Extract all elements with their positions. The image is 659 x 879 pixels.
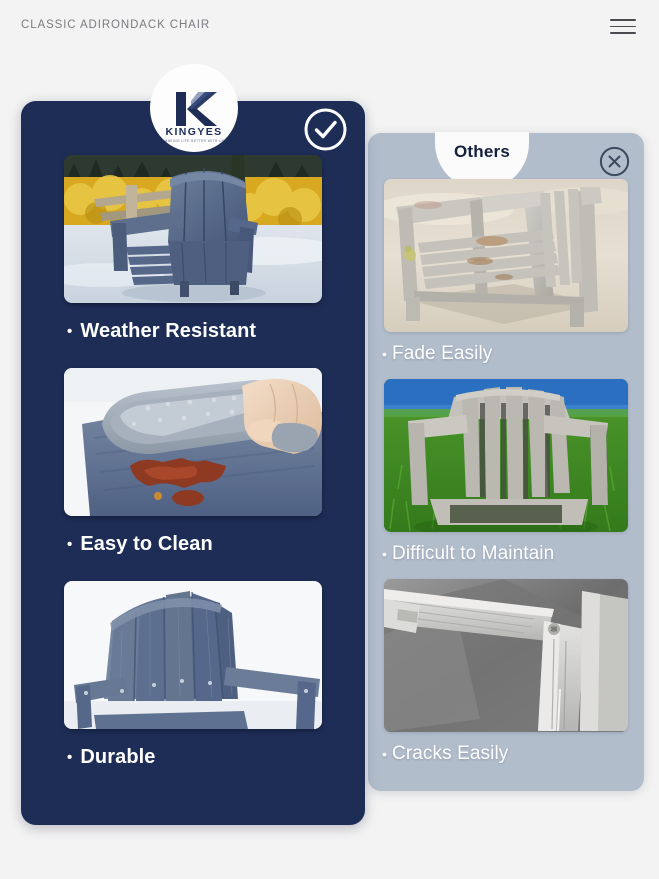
list-item: •Easy to Clean: [21, 368, 365, 581]
ours-photo-durable: [64, 581, 322, 729]
hamburger-line: [610, 19, 636, 21]
bullet-icon: •: [382, 746, 387, 762]
hamburger-line: [610, 26, 636, 28]
kingyes-k-logo-icon: [167, 92, 221, 126]
list-item: •Weather Resistant: [21, 155, 365, 368]
others-item-label: •Cracks Easily: [368, 732, 644, 779]
bullet-icon: •: [67, 749, 72, 766]
list-item: •Difficult to Maintain: [368, 379, 644, 579]
list-item: •Cracks Easily: [368, 579, 644, 779]
ours-item-label: •Easy to Clean: [21, 516, 365, 581]
ours-comparison-panel: KINGYES MAKING LIFE BETTER WITH US: [21, 101, 365, 825]
close-circle-icon[interactable]: [599, 146, 630, 177]
list-item: •Fade Easily: [368, 179, 644, 379]
bullet-icon: •: [382, 546, 387, 562]
others-item-label: •Difficult to Maintain: [368, 532, 644, 579]
ours-photo-weather: [64, 155, 322, 303]
ours-photo-clean: [64, 368, 322, 516]
brand-name: KINGYES: [165, 127, 222, 138]
top-bar: CLASSIC ADIRONDACK CHAIR: [0, 0, 659, 55]
bullet-icon: •: [382, 346, 387, 362]
product-comparison-page: CLASSIC ADIRONDACK CHAIR Others: [0, 0, 659, 879]
others-tab-label: Others: [454, 142, 510, 162]
hamburger-menu-icon[interactable]: [610, 19, 636, 35]
others-photo-cracks: [384, 579, 628, 732]
ours-item-label: •Durable: [21, 729, 365, 794]
ours-item-label: •Weather Resistant: [21, 303, 365, 368]
list-item: •Durable: [21, 581, 365, 794]
bullet-icon: •: [67, 323, 72, 340]
others-comparison-panel: Others: [368, 133, 644, 791]
others-photo-maintain: [384, 379, 628, 532]
brand-logo: KINGYES MAKING LIFE BETTER WITH US: [150, 64, 238, 152]
others-feature-list: •Fade Easily: [368, 179, 644, 779]
check-circle-icon[interactable]: [303, 107, 348, 152]
ours-feature-list: •Weather Resistant: [21, 155, 365, 794]
brand-tagline: MAKING LIFE BETTER WITH US: [164, 139, 224, 143]
hamburger-line: [610, 32, 636, 34]
others-photo-fade: [384, 179, 628, 332]
bullet-icon: •: [67, 536, 72, 553]
others-item-label: •Fade Easily: [368, 332, 644, 379]
page-title: CLASSIC ADIRONDACK CHAIR: [21, 19, 210, 31]
